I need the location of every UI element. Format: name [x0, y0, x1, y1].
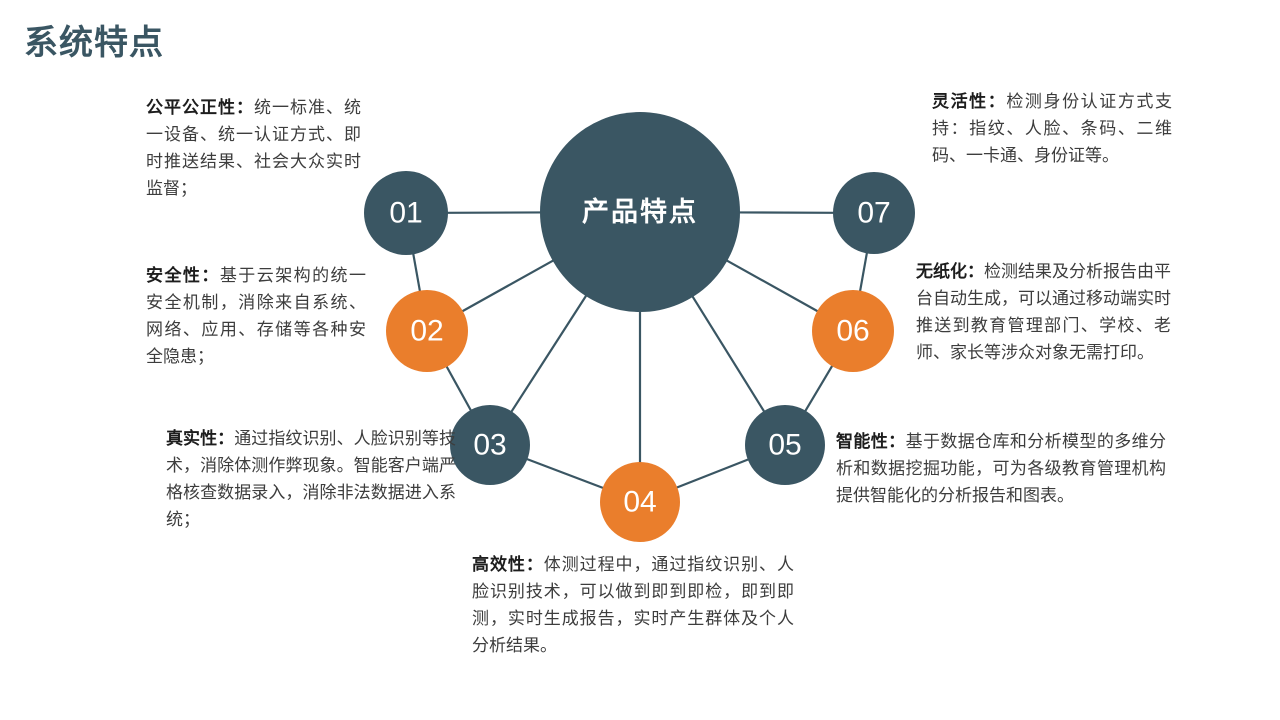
- caption-authenticity-lead: 真实性：: [166, 429, 234, 448]
- node-05-label: 05: [768, 429, 801, 462]
- connector-n03-n04: [526, 459, 603, 488]
- node-03[interactable]: 03: [450, 405, 530, 485]
- node-02[interactable]: 02: [386, 290, 468, 372]
- caption-flexibility: 灵活性：检测身份认证方式支持：指纹、人脸、条码、二维码、一卡通、身份证等。: [932, 88, 1172, 169]
- caption-paperless-lead: 无纸化：: [916, 262, 984, 281]
- caption-fairness-lead: 公平公正性：: [146, 98, 254, 117]
- node-07-label: 07: [857, 197, 890, 230]
- connector-hub-n02: [462, 260, 554, 311]
- hub-node-label: 产品特点: [582, 197, 698, 227]
- connector-n02-n03: [446, 366, 471, 411]
- node-02-label: 02: [410, 315, 443, 348]
- node-06-label: 06: [836, 315, 869, 348]
- node-07[interactable]: 07: [833, 172, 915, 254]
- caption-intelligence-lead: 智能性：: [836, 432, 906, 451]
- connector-hub-n05: [692, 296, 764, 412]
- node-04-label: 04: [623, 486, 656, 519]
- node-05[interactable]: 05: [745, 405, 825, 485]
- node-03-label: 03: [473, 429, 506, 462]
- caption-efficiency-lead: 高效性：: [472, 555, 544, 574]
- node-04[interactable]: 04: [600, 462, 680, 542]
- caption-security-lead: 安全性：: [146, 266, 220, 285]
- caption-fairness: 公平公正性：统一标准、统一设备、统一认证方式、即时推送结果、社会大众实时监督；: [146, 94, 361, 202]
- connector-n04-n05: [676, 459, 748, 487]
- caption-authenticity: 真实性：通过指纹识别、人脸识别等技术，消除体测作弊现象。智能客户端严格核查数据录…: [166, 425, 456, 533]
- node-01-label: 01: [389, 197, 422, 230]
- connector-n06-n07: [860, 252, 867, 291]
- caption-intelligence: 智能性：基于数据仓库和分析模型的多维分析和数据挖掘功能，可为各级教育管理机构提供…: [836, 428, 1166, 509]
- caption-paperless: 无纸化：检测结果及分析报告由平台自动生成，可以通过移动端实时推送到教育管理部门、…: [916, 258, 1171, 366]
- connector-n05-n06: [805, 365, 833, 411]
- connector-hub-n03: [511, 295, 586, 412]
- hub-node[interactable]: 产品特点: [540, 112, 740, 312]
- node-01[interactable]: 01: [364, 171, 448, 255]
- caption-security: 安全性：基于云架构的统一安全机制，消除来自系统、网络、应用、存储等各种安全隐患；: [146, 262, 366, 370]
- caption-flexibility-lead: 灵活性：: [932, 92, 1006, 111]
- connector-n01-n02: [413, 253, 420, 291]
- connector-hub-n06: [726, 260, 818, 311]
- caption-efficiency: 高效性：体测过程中，通过指纹识别、人脸识别技术，可以做到即到即检，即到即测，实时…: [472, 551, 794, 659]
- node-06[interactable]: 06: [812, 290, 894, 372]
